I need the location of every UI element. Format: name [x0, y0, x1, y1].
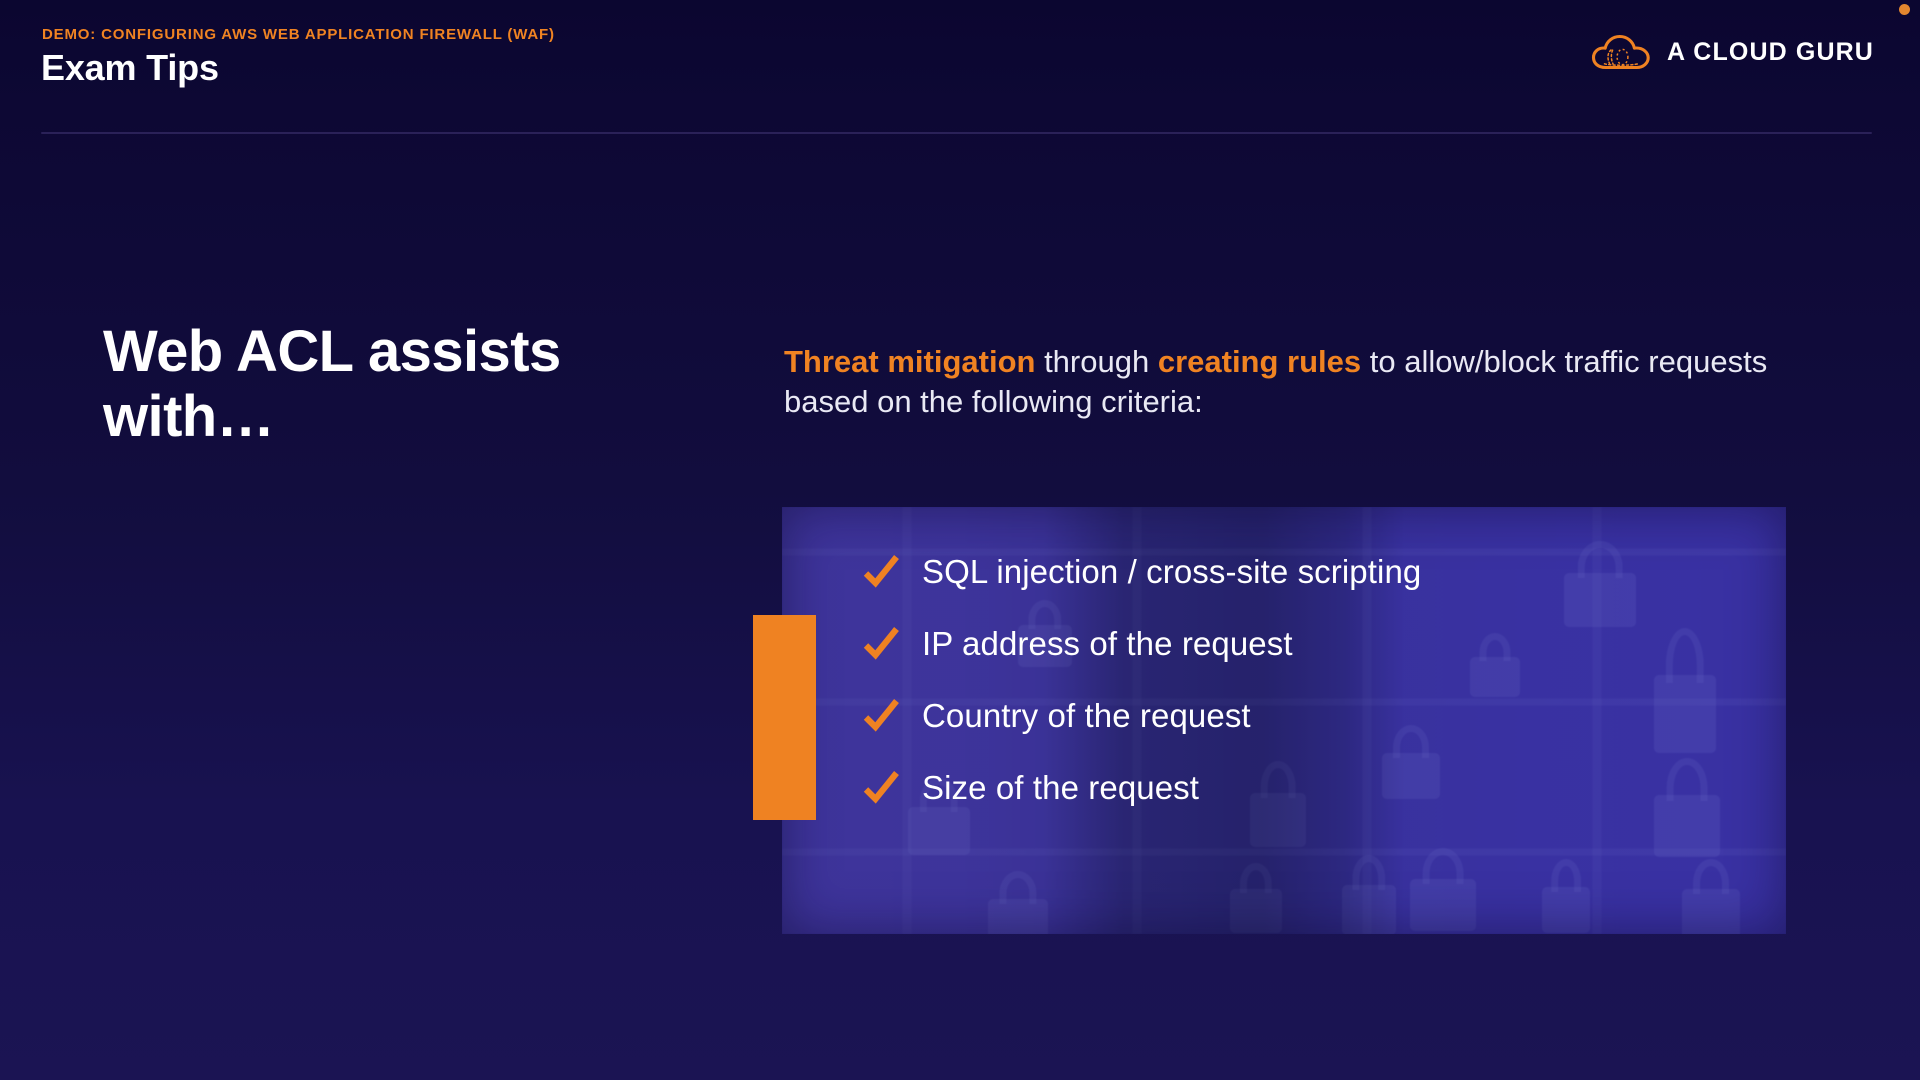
check-icon — [862, 553, 900, 591]
slide-header: DEMO: CONFIGURING AWS WEB APPLICATION FI… — [0, 0, 1920, 134]
lead-paragraph: Threat mitigation through creating rules… — [784, 342, 1794, 421]
lead-text-mid: through — [1035, 344, 1157, 379]
header-divider — [41, 132, 1872, 134]
list-item: SQL injection / cross-site scripting — [862, 536, 1421, 608]
brand-name: A CLOUD GURU — [1667, 38, 1874, 67]
recording-indicator-dot — [1899, 4, 1910, 15]
lead-highlight-creating-rules: creating rules — [1158, 344, 1361, 379]
page-title: Exam Tips — [41, 47, 219, 89]
list-item-label: Country of the request — [922, 697, 1251, 735]
lead-highlight-threat-mitigation: Threat mitigation — [784, 344, 1035, 379]
list-item: IP address of the request — [862, 608, 1421, 680]
section-headline: Web ACL assists with… — [103, 320, 663, 450]
list-item-label: IP address of the request — [922, 625, 1293, 663]
check-icon — [862, 697, 900, 735]
check-icon — [862, 769, 900, 807]
slide-root: DEMO: CONFIGURING AWS WEB APPLICATION FI… — [0, 0, 1920, 1080]
list-item: Size of the request — [862, 752, 1421, 824]
criteria-checklist: SQL injection / cross-site scripting IP … — [862, 536, 1421, 824]
brand-logo: A CLOUD GURU — [1591, 31, 1874, 73]
list-item-label: Size of the request — [922, 769, 1199, 807]
lesson-eyebrow: DEMO: CONFIGURING AWS WEB APPLICATION FI… — [42, 26, 555, 43]
list-item: Country of the request — [862, 680, 1421, 752]
orange-accent-bar — [753, 615, 816, 820]
check-icon — [862, 625, 900, 663]
list-item-label: SQL injection / cross-site scripting — [922, 553, 1421, 591]
cloud-icon — [1591, 31, 1653, 73]
